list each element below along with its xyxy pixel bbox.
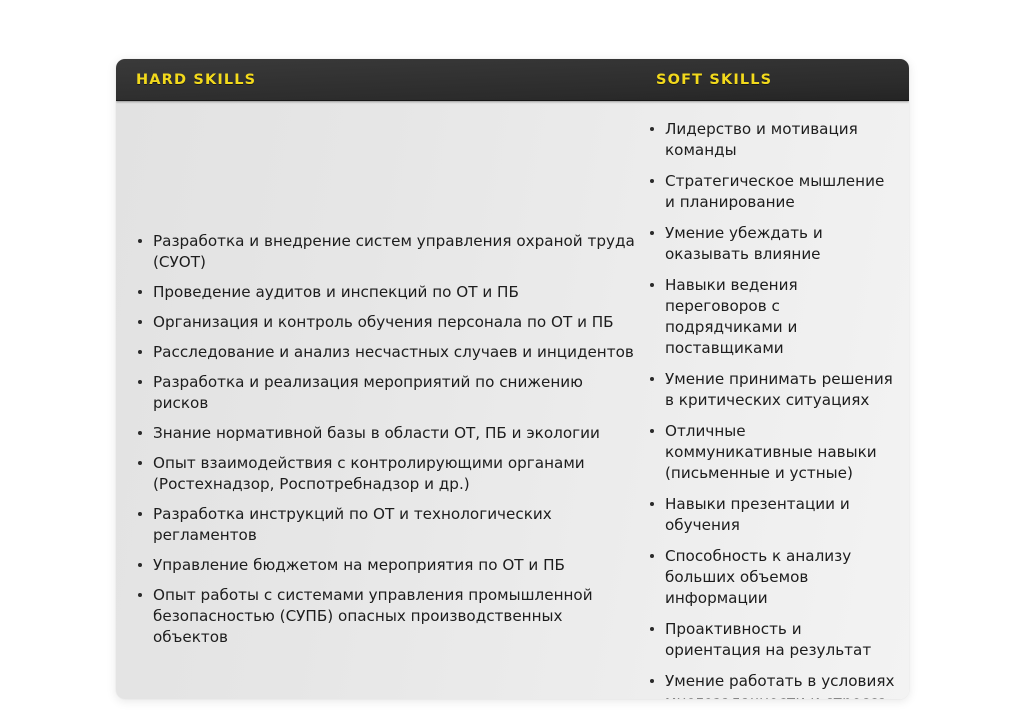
list-item: Отличные коммуникативные навыки (письмен… xyxy=(646,421,895,484)
list-item: Умение убеждать и оказывать влияние xyxy=(646,223,895,265)
list-item: Разработка и внедрение систем управления… xyxy=(134,231,640,273)
hard-skills-list: Разработка и внедрение систем управления… xyxy=(134,231,640,648)
card-header-bar: HARD SKILLS SOFT SKILLS xyxy=(116,59,909,101)
list-item: Навыки презентации и обучения xyxy=(646,494,895,536)
list-item: Опыт работы с системами управления промы… xyxy=(134,585,640,648)
page-root: HARD SKILLS SOFT SKILLS Разработка и вне… xyxy=(0,0,1024,720)
list-item: Разработка и реализация мероприятий по с… xyxy=(134,372,640,414)
list-item: Опыт взаимодействия с контролирующими ор… xyxy=(134,453,640,495)
soft-skills-header-title: SOFT SKILLS xyxy=(656,72,772,88)
list-item: Умение принимать решения в критических с… xyxy=(646,369,895,411)
hard-skills-header-title: HARD SKILLS xyxy=(136,72,256,88)
soft-skills-column: Лидерство и мотивация командыСтратегичес… xyxy=(640,101,909,699)
list-item: Организация и контроль обучения персонал… xyxy=(134,312,640,333)
list-item: Управление бюджетом на мероприятия по ОТ… xyxy=(134,555,640,576)
list-item: Способность к анализу больших объемов ин… xyxy=(646,546,895,609)
soft-skills-list: Лидерство и мотивация командыСтратегичес… xyxy=(646,119,895,699)
skills-card: HARD SKILLS SOFT SKILLS Разработка и вне… xyxy=(116,59,909,699)
list-item: Лидерство и мотивация команды xyxy=(646,119,895,161)
list-item: Проактивность и ориентация на результат xyxy=(646,619,895,661)
hard-skills-column: Разработка и внедрение систем управления… xyxy=(116,101,640,657)
list-item: Стратегическое мышление и планирование xyxy=(646,171,895,213)
card-body: Разработка и внедрение систем управления… xyxy=(116,101,909,699)
list-item: Проведение аудитов и инспекций по ОТ и П… xyxy=(134,282,640,303)
list-item: Знание нормативной базы в области ОТ, ПБ… xyxy=(134,423,640,444)
list-item: Навыки ведения переговоров с подрядчикам… xyxy=(646,275,895,359)
list-item: Разработка инструкций по ОТ и технологич… xyxy=(134,504,640,546)
list-item: Умение работать в условиях многозадачнос… xyxy=(646,671,895,699)
list-item: Расследование и анализ несчастных случае… xyxy=(134,342,640,363)
